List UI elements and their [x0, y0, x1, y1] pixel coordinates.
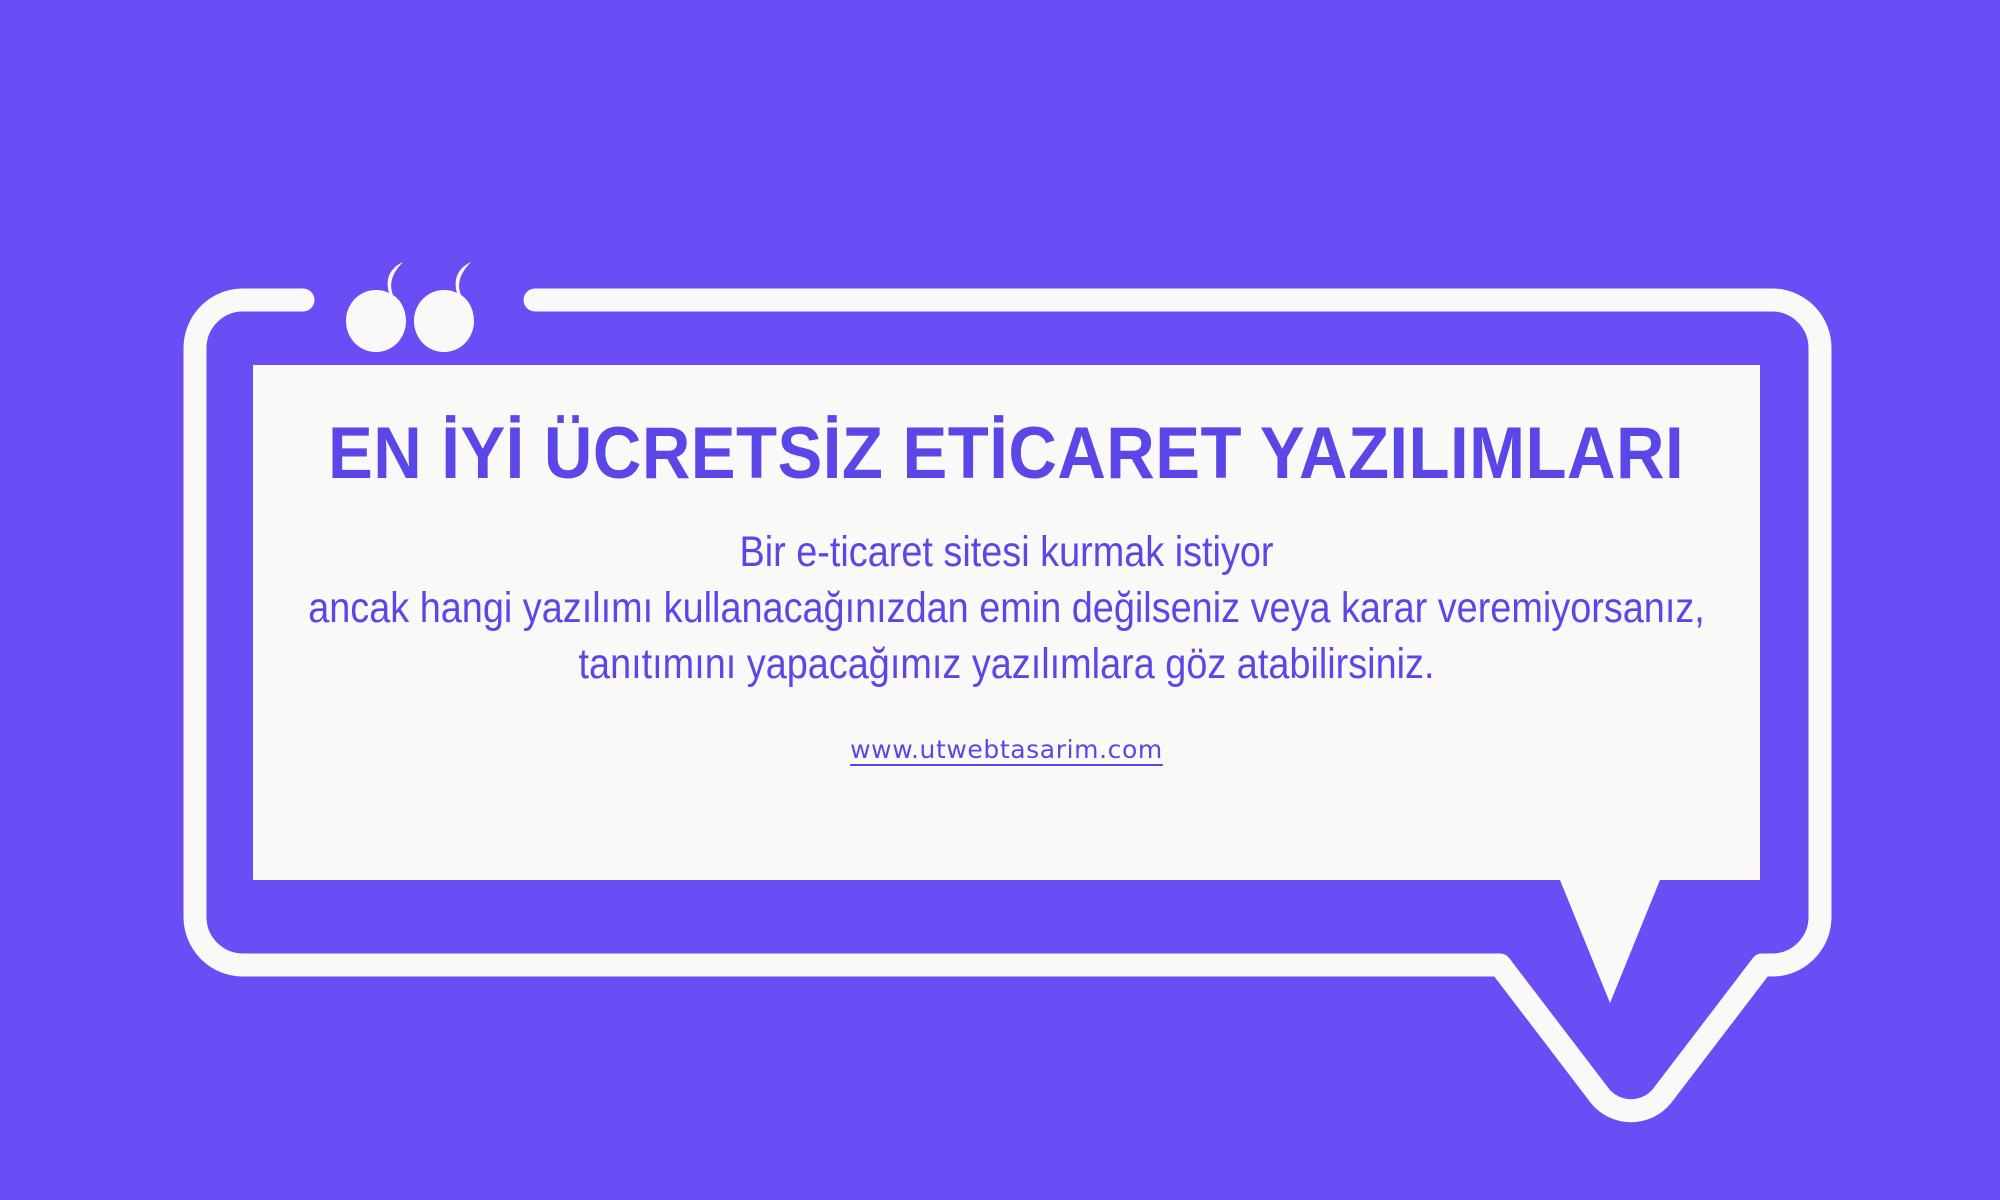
body-paragraph: Bir e-ticaret sitesi kurmak istiyor anca…: [213, 525, 1800, 693]
body-line-3: tanıtımını yapacağımız yazılımlara göz a…: [308, 637, 1705, 693]
quote-glyph-left: [346, 262, 406, 352]
body-line-1: Bir e-ticaret sitesi kurmak istiyor: [308, 525, 1705, 581]
body-line-2: ancak hangi yazılımı kullanacağınızdan e…: [308, 581, 1705, 637]
double-quote-open-icon: [345, 262, 475, 352]
quote-glyph-right: [414, 262, 474, 352]
card-content: EN İYİ ÜCRETSİZ ETİCARET YAZILIMLARI Bir…: [253, 365, 1760, 880]
poster-canvas: EN İYİ ÜCRETSİZ ETİCARET YAZILIMLARI Bir…: [0, 0, 2000, 1200]
website-url-link[interactable]: www.utwebtasarim.com: [850, 735, 1163, 764]
page-title: EN İYİ ÜCRETSİZ ETİCARET YAZILIMLARI: [328, 417, 1684, 491]
